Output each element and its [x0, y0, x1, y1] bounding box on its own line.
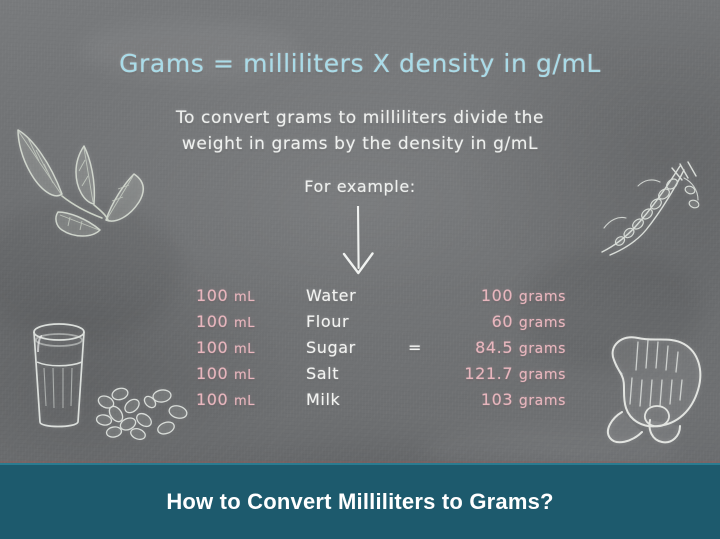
- banner-heading: How to Convert Milliliters to Grams?: [166, 489, 553, 515]
- mass-unit: grams: [519, 393, 566, 409]
- cell-volume: 100 mL: [196, 364, 306, 383]
- mass-unit: grams: [519, 289, 566, 305]
- mass-unit: grams: [519, 315, 566, 331]
- cell-volume: 100 mL: [196, 286, 306, 305]
- volume-unit: mL: [234, 290, 255, 305]
- bottom-banner: How to Convert Milliliters to Grams?: [0, 463, 720, 539]
- cell-ingredient: Salt: [306, 364, 398, 383]
- cell-ingredient: Water: [306, 286, 398, 305]
- cell-volume: 100 mL: [196, 338, 306, 357]
- volume-value: 100: [196, 338, 228, 357]
- table-row: 100 mL Flour 60 grams: [196, 312, 566, 338]
- table-row: 100 mL Milk 103 grams: [196, 390, 566, 416]
- equals-symbol: =: [398, 338, 432, 357]
- slide-canvas: Grams = milliliters X density in g/mL To…: [0, 0, 720, 539]
- cell-mass: 103 grams: [432, 390, 566, 409]
- mass-value: 84.5: [475, 338, 513, 357]
- volume-value: 100: [196, 286, 228, 305]
- volume-unit: mL: [234, 342, 255, 357]
- volume-unit: mL: [234, 316, 255, 331]
- cell-volume: 100 mL: [196, 312, 306, 331]
- subtitle-text: To convert grams to milliliters divide t…: [120, 106, 600, 157]
- cell-mass: 60 grams: [432, 312, 566, 331]
- cell-volume: 100 mL: [196, 390, 306, 409]
- subtitle-line-2: weight in grams by the density in g/mL: [120, 132, 600, 158]
- mass-value: 100: [481, 286, 513, 305]
- cell-mass: 84.5 grams: [432, 338, 566, 357]
- cell-ingredient: Milk: [306, 390, 398, 409]
- cell-mass: 121.7 grams: [432, 364, 566, 383]
- table-row: 100 mL Sugar = 84.5 grams: [196, 338, 566, 364]
- volume-unit: mL: [234, 394, 255, 409]
- page-title: Grams = milliliters X density in g/mL: [0, 50, 720, 78]
- mass-unit: grams: [519, 341, 566, 357]
- mass-unit: grams: [519, 367, 566, 383]
- cell-ingredient: Sugar: [306, 338, 398, 357]
- arrow-down-icon: [337, 206, 379, 284]
- mass-value: 103: [481, 390, 513, 409]
- for-example-label: For example:: [0, 177, 720, 196]
- volume-value: 100: [196, 390, 228, 409]
- conversion-table: 100 mL Water 100 grams 100 mL Flour 60 g…: [196, 286, 566, 416]
- volume-unit: mL: [234, 368, 255, 383]
- table-row: 100 mL Water 100 grams: [196, 286, 566, 312]
- volume-value: 100: [196, 312, 228, 331]
- table-row: 100 mL Salt 121.7 grams: [196, 364, 566, 390]
- mass-value: 121.7: [464, 364, 513, 383]
- subtitle-line-1: To convert grams to milliliters divide t…: [120, 106, 600, 132]
- cell-ingredient: Flour: [306, 312, 398, 331]
- cell-mass: 100 grams: [432, 286, 566, 305]
- mass-value: 60: [492, 312, 514, 331]
- volume-value: 100: [196, 364, 228, 383]
